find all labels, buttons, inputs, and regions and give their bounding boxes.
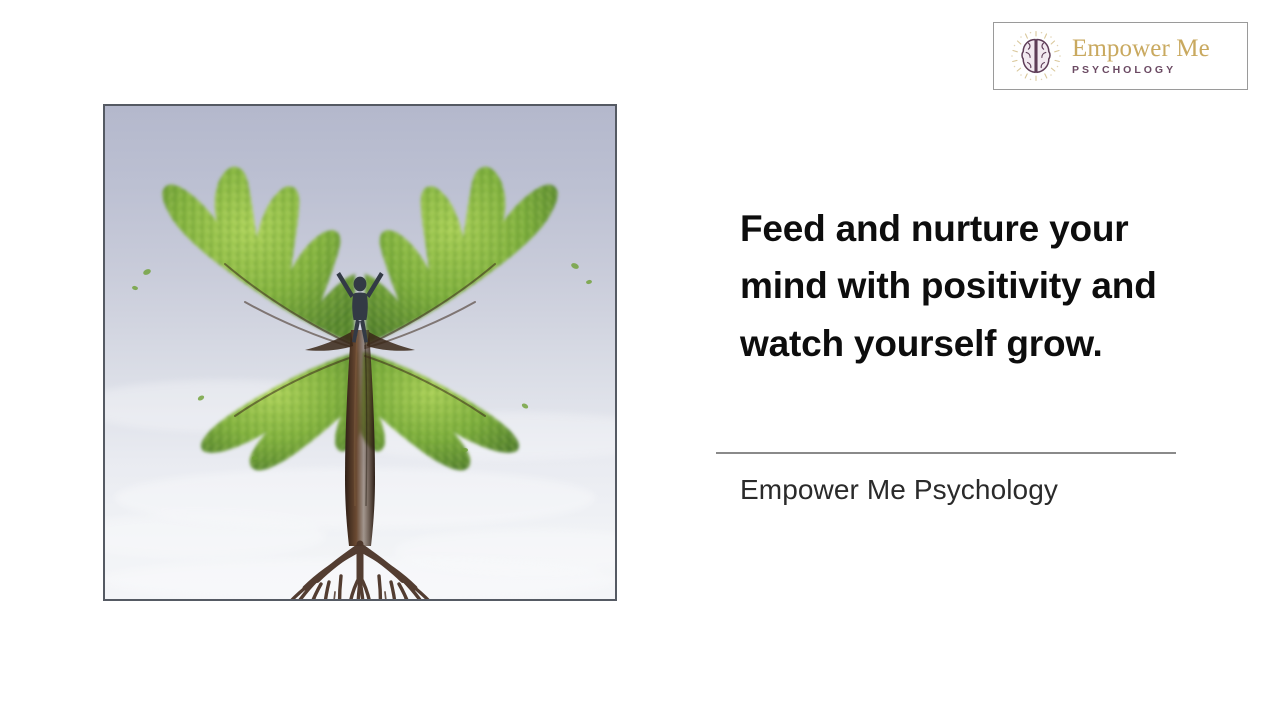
quote-attribution: Empower Me Psychology xyxy=(740,474,1058,506)
tree-wings-illustration xyxy=(103,104,617,601)
brain-icon xyxy=(1010,30,1062,82)
quote-text: Feed and nurture your mind with positivi… xyxy=(740,200,1240,372)
quote-divider xyxy=(716,452,1176,454)
brand-tagline: PSYCHOLOGY xyxy=(1072,64,1210,76)
brand-logo-badge[interactable]: Empower Me PSYCHOLOGY xyxy=(993,22,1248,90)
brand-name: Empower Me xyxy=(1072,36,1210,62)
brand-wordmark: Empower Me PSYCHOLOGY xyxy=(1072,36,1210,76)
illustration-artwork xyxy=(105,106,615,599)
quote-line-2: mind with positivity and xyxy=(740,257,1240,314)
quote-line-1: Feed and nurture your xyxy=(740,200,1240,257)
quote-line-3: watch yourself grow. xyxy=(740,315,1240,372)
